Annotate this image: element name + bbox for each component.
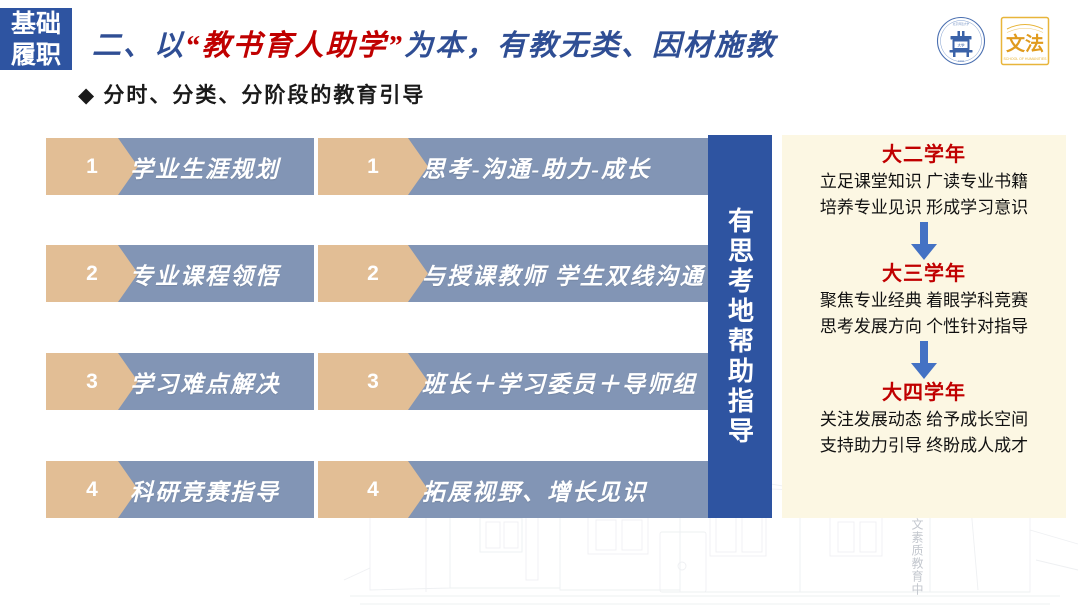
wenfa-college-logo-icon: 文法 SCHOOL OF HUMANITIES bbox=[1000, 16, 1050, 66]
flow-number: 3 bbox=[318, 353, 428, 410]
stage-panel: 大二学年 立足课堂知识 广读专业书籍 培养专业见识 形成学习意识 大三学年 聚焦… bbox=[782, 135, 1066, 518]
page-title: 二、以“教书育人助学”为本，有教无类、因材施教 bbox=[92, 22, 776, 64]
flow-label: 班长＋学习委员＋导师组 bbox=[422, 353, 697, 410]
flow-label: 学习难点解决 bbox=[130, 353, 280, 410]
stage-year-title: 大三学年 bbox=[782, 260, 1066, 288]
vertical-band: 有思考地帮助指导 bbox=[708, 135, 772, 518]
stage-line: 支持助力引导 终盼成人成才 bbox=[782, 433, 1066, 459]
section-badge-line2: 履职 bbox=[0, 40, 72, 71]
flow-number: 4 bbox=[318, 461, 428, 518]
flow-number: 1 bbox=[318, 138, 428, 195]
flow-label: 专业课程领悟 bbox=[130, 245, 280, 302]
page-subtitle: ◆ 分时、分类、分阶段的教育引导 bbox=[78, 79, 425, 109]
stage-line: 关注发展动态 给予成长空间 bbox=[782, 407, 1066, 433]
stage-senior: 大四学年 关注发展动态 给予成长空间 支持助力引导 终盼成人成才 bbox=[782, 379, 1066, 459]
flow-row-right-3[interactable]: 3 班长＋学习委员＋导师组 bbox=[318, 353, 708, 410]
flow-number: 2 bbox=[318, 245, 428, 302]
section-badge-line1: 基础 bbox=[0, 9, 72, 40]
page-title-part1: 二、以 bbox=[92, 30, 185, 62]
university-seal-icon: 大学 北京师范大学 1902 bbox=[936, 16, 986, 66]
page-title-quoted: “教书育人助学” bbox=[185, 30, 404, 62]
flow-row-right-1[interactable]: 1 思考-沟通-助力-成长 bbox=[318, 138, 708, 195]
arrow-down-icon bbox=[909, 341, 939, 379]
flow-label: 科研竞赛指导 bbox=[130, 461, 280, 518]
stage-sophomore: 大二学年 立足课堂知识 广读专业书籍 培养专业见识 形成学习意识 bbox=[782, 141, 1066, 260]
flow-row-left-3[interactable]: 3 学习难点解决 bbox=[46, 353, 314, 410]
slide-root: 人文素质教育中 基础 履职 二、以“教书育人助学”为本，有教无类、因材施教 ◆ … bbox=[0, 0, 1080, 610]
svg-text:北京师范大学: 北京师范大学 bbox=[953, 22, 970, 26]
flow-label: 与授课教师 学生双线沟通 bbox=[422, 245, 705, 302]
stage-line: 思考发展方向 个性针对指导 bbox=[782, 314, 1066, 340]
section-badge: 基础 履职 bbox=[0, 8, 72, 70]
flow-label: 拓展视野、增长见识 bbox=[422, 461, 647, 518]
svg-text:大学: 大学 bbox=[958, 43, 966, 48]
svg-text:1902: 1902 bbox=[958, 59, 965, 63]
svg-text:SCHOOL OF HUMANITIES: SCHOOL OF HUMANITIES bbox=[1003, 57, 1047, 61]
stage-junior: 大三学年 聚焦专业经典 着眼学科竞赛 思考发展方向 个性针对指导 bbox=[782, 260, 1066, 379]
flow-row-left-4[interactable]: 4 科研竞赛指导 bbox=[46, 461, 314, 518]
flow-row-right-4[interactable]: 4 拓展视野、增长见识 bbox=[318, 461, 708, 518]
arrow-down-icon bbox=[909, 222, 939, 260]
stage-year-title: 大四学年 bbox=[782, 379, 1066, 407]
flow-row-right-2[interactable]: 2 与授课教师 学生双线沟通 bbox=[318, 245, 708, 302]
page-title-part2: 为本，有教无类、因材施教 bbox=[404, 30, 776, 62]
vertical-band-text: 有思考地帮助指导 bbox=[708, 135, 772, 518]
stage-line: 立足课堂知识 广读专业书籍 bbox=[782, 169, 1066, 195]
stage-line: 培养专业见识 形成学习意识 bbox=[782, 195, 1066, 221]
flow-row-left-2[interactable]: 2 专业课程领悟 bbox=[46, 245, 314, 302]
watermark-vertical-text: 人文素质教育中 bbox=[905, 505, 923, 596]
stage-year-title: 大二学年 bbox=[782, 141, 1066, 169]
flow-label: 思考-沟通-助力-成长 bbox=[422, 138, 651, 195]
flow-row-left-1[interactable]: 1 学业生涯规划 bbox=[46, 138, 314, 195]
flow-label: 学业生涯规划 bbox=[130, 138, 280, 195]
svg-text:文法: 文法 bbox=[1006, 32, 1044, 55]
stage-line: 聚焦专业经典 着眼学科竞赛 bbox=[782, 288, 1066, 314]
